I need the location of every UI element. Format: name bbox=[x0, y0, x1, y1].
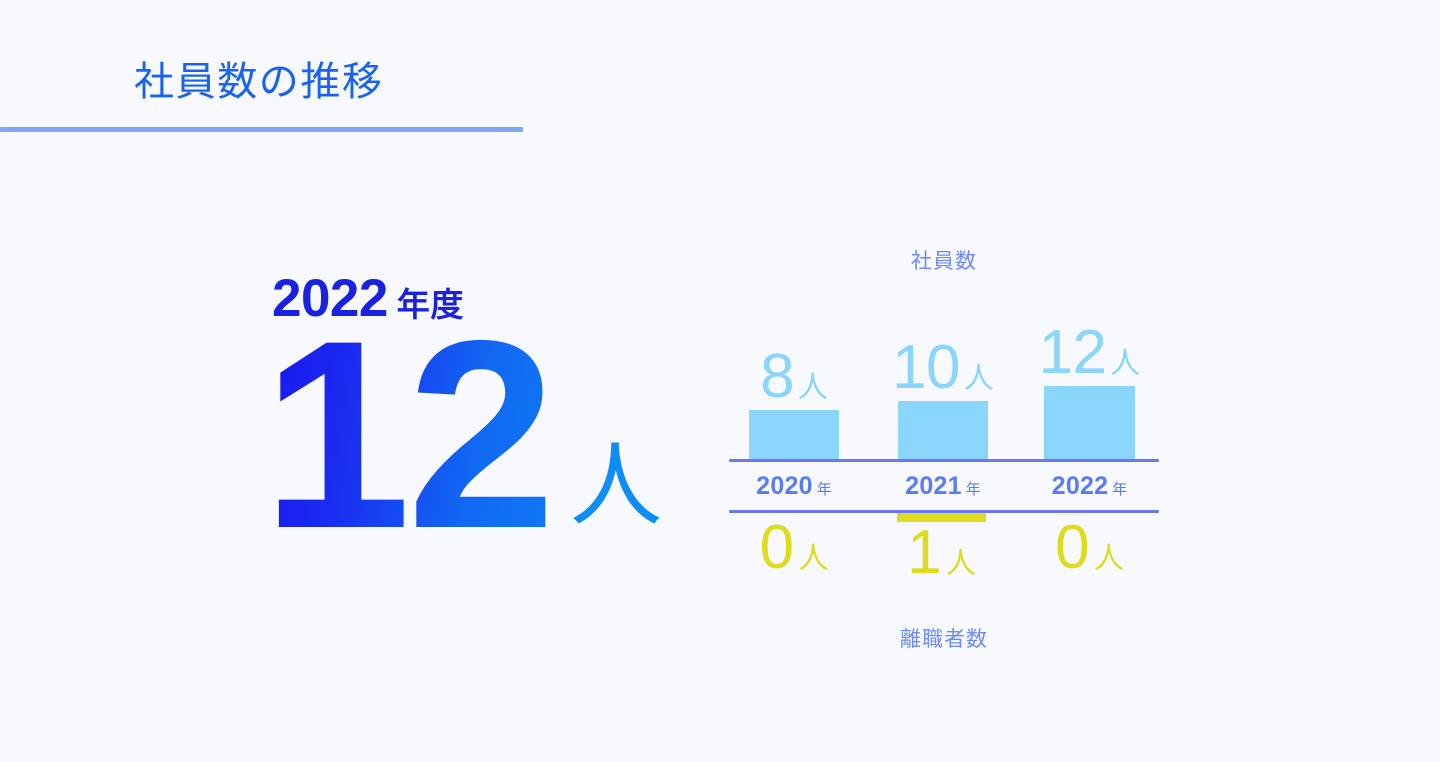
attrition-value-2020: 0 人 bbox=[760, 517, 829, 579]
category-label-unit: 年 bbox=[1112, 482, 1127, 497]
attrition-value-number: 0 bbox=[1055, 517, 1089, 579]
attrition-value-number: 1 bbox=[907, 522, 941, 584]
hero-count-value: 12 bbox=[262, 330, 552, 539]
category-label-number: 2020 bbox=[756, 474, 813, 499]
bar-rect-2021[interactable] bbox=[898, 401, 988, 459]
bar-column-2020[interactable]: 8 人 bbox=[749, 346, 839, 459]
bar-rect-2022[interactable] bbox=[1044, 386, 1135, 459]
category-label-2020: 2020 年 bbox=[749, 474, 839, 499]
attrition-value-number: 0 bbox=[760, 517, 794, 579]
bar-column-2022[interactable]: 12 人 bbox=[1044, 322, 1135, 459]
hero-count-unit: 人 bbox=[570, 440, 662, 532]
bar-value-unit: 人 bbox=[1110, 349, 1140, 379]
bar-column-2021[interactable]: 10 人 bbox=[898, 337, 988, 459]
chart-bottom-caption: 離職者数 bbox=[729, 623, 1159, 653]
hero-count-line: 12 人 bbox=[150, 330, 670, 539]
chart-bars-lower: 0 人 1 人 0 人 bbox=[729, 513, 1159, 617]
bar-value-unit: 人 bbox=[964, 364, 994, 394]
bar-value-number: 10 bbox=[892, 337, 960, 399]
employee-chart: 社員数 8 人 10 人 12 人 2020 bbox=[729, 245, 1159, 653]
category-label-unit: 年 bbox=[817, 482, 832, 497]
category-label-unit: 年 bbox=[966, 482, 981, 497]
attrition-value-unit: 人 bbox=[1094, 544, 1124, 574]
bar-value-2021: 10 人 bbox=[892, 337, 994, 399]
title-underline-rule bbox=[0, 127, 523, 132]
bar-value-2020: 8 人 bbox=[760, 346, 828, 408]
attrition-column-2022[interactable]: 0 人 bbox=[1044, 513, 1135, 579]
bar-rect-2020[interactable] bbox=[749, 410, 839, 459]
attrition-column-2020[interactable]: 0 人 bbox=[749, 513, 839, 579]
attrition-value-unit: 人 bbox=[946, 549, 976, 579]
attrition-value-2021: 1 人 bbox=[907, 522, 976, 584]
page-title: 社員数の推移 bbox=[0, 58, 523, 106]
attrition-column-2021[interactable]: 1 人 bbox=[897, 513, 986, 584]
bar-value-unit: 人 bbox=[798, 373, 828, 403]
category-label-number: 2022 bbox=[1052, 474, 1109, 499]
category-label-number: 2021 bbox=[905, 474, 962, 499]
bar-value-number: 12 bbox=[1039, 322, 1107, 384]
slide-title-block: 社員数の推移 bbox=[0, 58, 523, 132]
bar-value-number: 8 bbox=[760, 346, 794, 408]
chart-bars-upper: 8 人 10 人 12 人 bbox=[729, 281, 1159, 459]
attrition-value-2022: 0 人 bbox=[1055, 517, 1124, 579]
category-label-2022: 2022 年 bbox=[1044, 474, 1135, 499]
category-label-2021: 2021 年 bbox=[898, 474, 988, 499]
bar-value-2022: 12 人 bbox=[1039, 322, 1141, 384]
hero-stat-block: 2022 年度 12 人 bbox=[150, 272, 670, 539]
chart-top-caption: 社員数 bbox=[729, 245, 1159, 275]
attrition-value-unit: 人 bbox=[798, 544, 828, 574]
chart-category-axis: 2020 年 2021 年 2022 年 bbox=[729, 462, 1159, 510]
